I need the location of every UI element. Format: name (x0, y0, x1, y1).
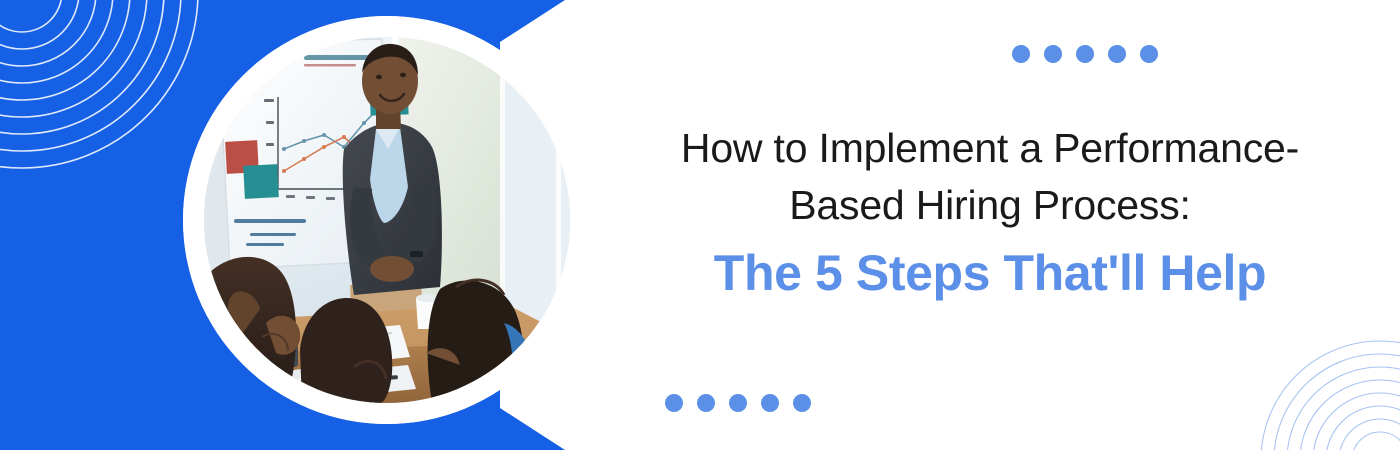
decorative-dot (1140, 45, 1158, 63)
decorative-dot (697, 394, 715, 412)
decorative-dot (1044, 45, 1062, 63)
headline-line-2: Based Hiring Process: (620, 177, 1360, 234)
decorative-dot (1108, 45, 1126, 63)
decorative-dot (1012, 45, 1030, 63)
decorative-dot (761, 394, 779, 412)
hero-photo-circle (183, 16, 591, 424)
headline-accent-line: The 5 Steps That'll Help (620, 241, 1360, 305)
meeting-room-illustration (204, 37, 570, 403)
dot-row-top-right (1012, 45, 1158, 63)
dot-row-bottom-left (665, 394, 811, 412)
blog-header-banner: How to Implement a Performance- Based Hi… (0, 0, 1400, 450)
photo-image (204, 37, 570, 403)
decorative-dot (665, 394, 683, 412)
decorative-dot (793, 394, 811, 412)
headline-line-1: How to Implement a Performance- (620, 120, 1360, 177)
headline-block: How to Implement a Performance- Based Hi… (620, 120, 1360, 305)
concentric-rings-bottom-right (1240, 310, 1400, 450)
decorative-dot (1076, 45, 1094, 63)
decorative-dot (729, 394, 747, 412)
